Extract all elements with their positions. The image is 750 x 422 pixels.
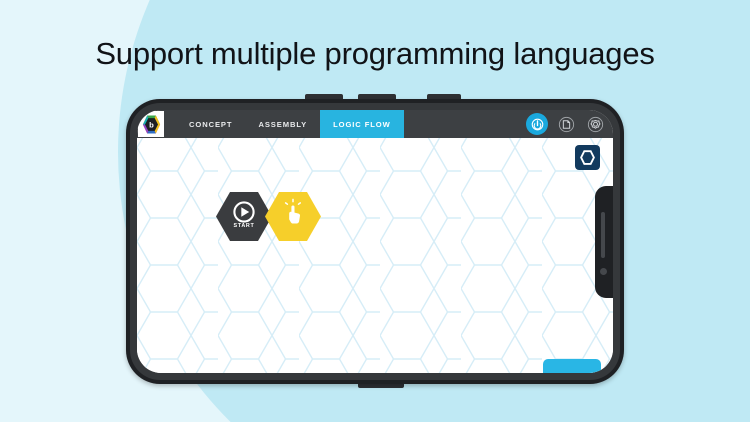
hexagon-logo-icon: b bbox=[141, 114, 162, 135]
save-document-icon bbox=[558, 116, 575, 133]
power-icon bbox=[531, 118, 544, 131]
app-top-bar: b CONCEPT ASSEMBLY LOGIC FLOW bbox=[137, 110, 613, 138]
phone-screen: START bbox=[137, 110, 613, 373]
hexagon-grid-background bbox=[137, 138, 613, 373]
tab-logic-flow[interactable]: LOGIC FLOW bbox=[320, 110, 404, 138]
settings-button[interactable] bbox=[584, 113, 606, 135]
start-block-label: START bbox=[216, 223, 272, 229]
tab-concept[interactable]: CONCEPT bbox=[176, 110, 245, 138]
start-block-hexagon bbox=[216, 192, 272, 241]
phone-notch bbox=[595, 186, 613, 298]
touch-block-hexagon bbox=[265, 192, 321, 241]
hexagon-outline-icon bbox=[580, 150, 595, 165]
gear-icon bbox=[587, 116, 604, 133]
tab-assembly[interactable]: ASSEMBLY bbox=[245, 110, 320, 138]
save-button[interactable] bbox=[555, 113, 577, 135]
front-camera-icon bbox=[600, 268, 607, 275]
svg-text:b: b bbox=[149, 120, 154, 129]
touch-block[interactable] bbox=[265, 192, 321, 241]
page-root: Support multiple programming languages bbox=[0, 0, 750, 422]
power-upload-button[interactable] bbox=[526, 113, 548, 135]
hexagon-logo[interactable]: b bbox=[138, 111, 164, 137]
logic-flow-canvas[interactable]: START bbox=[137, 138, 613, 373]
run-button[interactable] bbox=[543, 359, 601, 373]
phone-body: START bbox=[126, 99, 624, 384]
page-title: Support multiple programming languages bbox=[0, 36, 750, 72]
start-block[interactable]: START bbox=[216, 192, 272, 241]
earpiece-speaker bbox=[601, 212, 605, 258]
phone-mockup: START bbox=[126, 99, 624, 384]
hexagon-palette-widget[interactable] bbox=[575, 145, 600, 170]
